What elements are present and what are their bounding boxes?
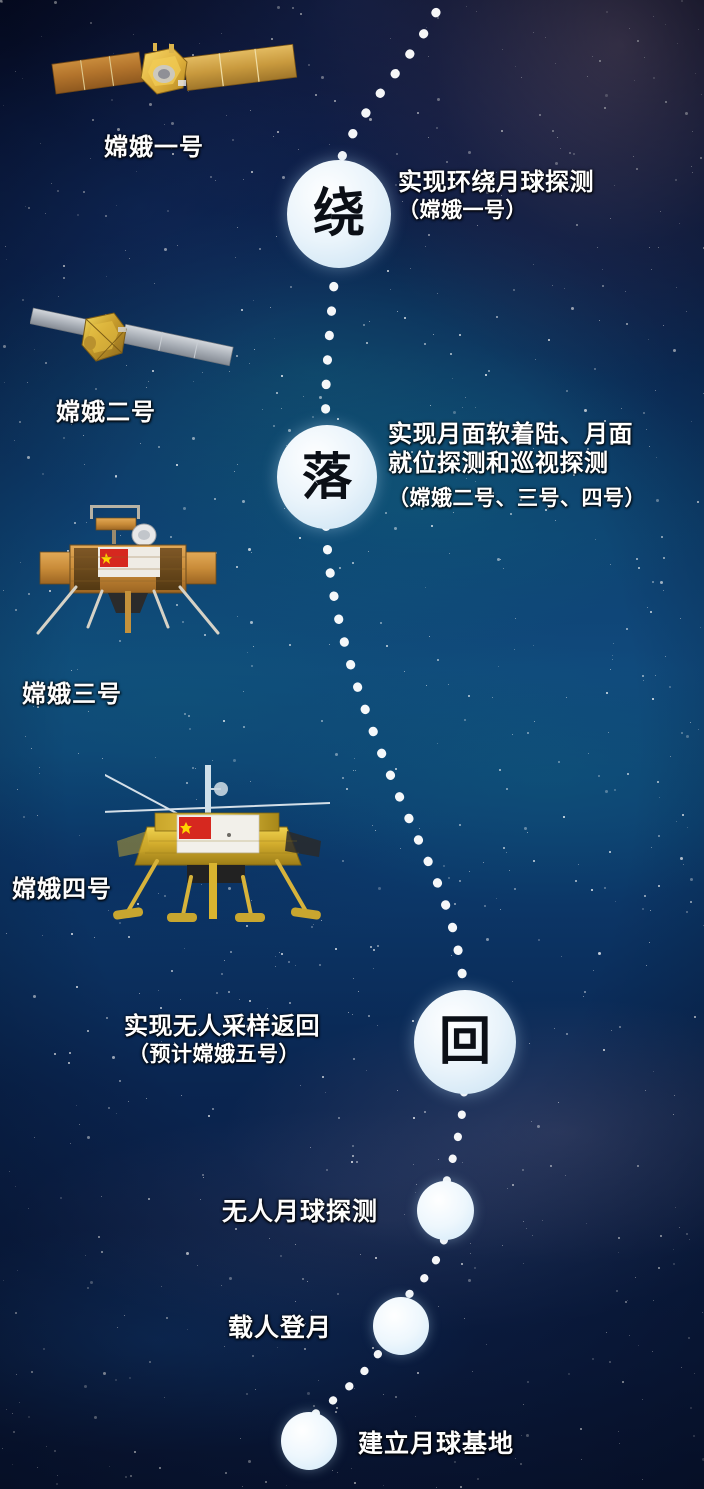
spacecraft-change-4-illustration [105,765,330,940]
milestone-node-luo[interactable]: 落 [277,425,377,529]
milestone-luo-line3: （嫦娥二号、三号、四号） [388,485,646,512]
caption-change-4: 嫦娥四号 [12,869,112,904]
future-label-manned-landing: 载人登月 [228,1308,332,1344]
milestone-luo-line2: 就位探测和巡视探测 [388,449,646,478]
milestone-node-hui[interactable]: 回 [414,990,516,1094]
caption-change-1: 嫦娥一号 [104,127,204,162]
caption-change-3: 嫦娥三号 [22,674,122,709]
future-node-manned-landing[interactable] [373,1297,429,1355]
spacecraft-change-1-illustration [45,30,310,115]
milestone-node-rao[interactable]: 绕 [287,160,391,268]
future-label-lunar-base: 建立月球基地 [358,1424,514,1460]
milestone-description-luo: 实现月面软着陆、月面 就位探测和巡视探测 （嫦娥二号、三号、四号） [388,420,646,512]
milestone-luo-line1: 实现月面软着陆、月面 [388,420,646,449]
spacecraft-change-3-illustration [28,495,228,640]
future-label-unmanned-lunar-exploration: 无人月球探测 [222,1192,378,1228]
caption-change-2: 嫦娥二号 [56,392,156,427]
milestone-hui-line2: （预计嫦娥五号） [124,1041,320,1068]
milestone-glyph-luo: 落 [302,452,352,502]
future-node-lunar-base[interactable] [281,1412,337,1470]
milestone-hui-line1: 实现无人采样返回 [124,1012,320,1041]
lunar-program-infographic: 嫦娥一号 嫦娥二号 嫦娥三号 嫦娥四号 绕 实现环绕月球探测 （嫦娥一号） 落 … [0,0,704,1489]
future-node-unmanned-lunar-exploration[interactable] [417,1181,474,1240]
milestone-rao-line2: （嫦娥一号） [398,197,594,224]
milestone-glyph-rao: 绕 [313,188,365,240]
milestone-glyph-hui: 回 [439,1016,491,1068]
milestone-description-hui: 实现无人采样返回 （预计嫦娥五号） [124,1012,320,1069]
milestone-rao-line1: 实现环绕月球探测 [398,168,594,197]
spacecraft-change-2-illustration [30,305,260,385]
milestone-description-rao: 实现环绕月球探测 （嫦娥一号） [398,168,594,225]
